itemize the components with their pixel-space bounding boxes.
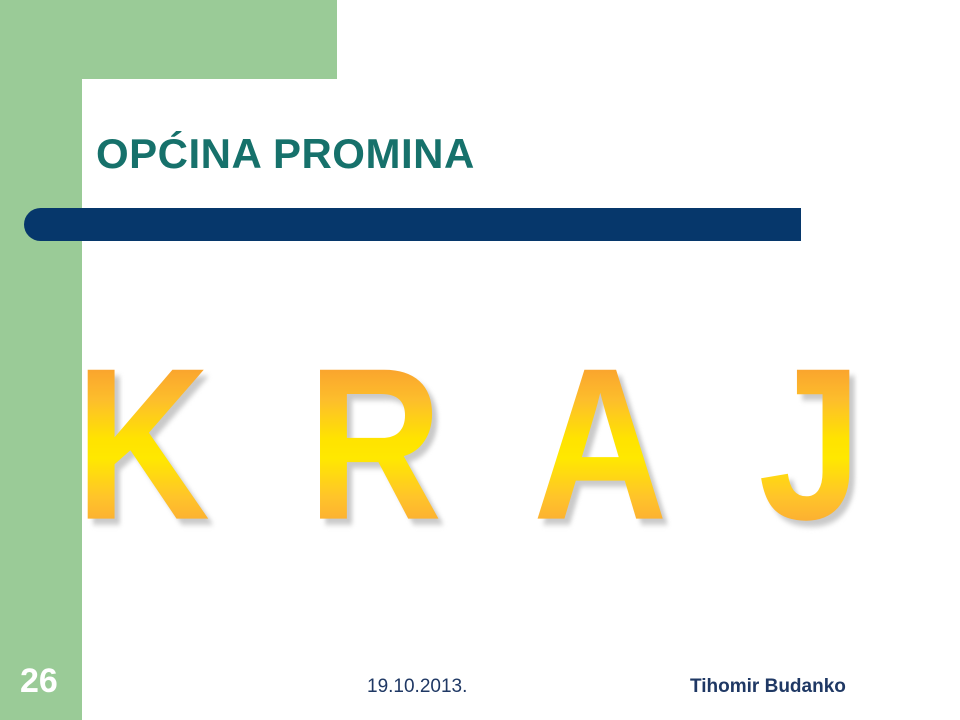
wordart-gradient-layer: K R A J bbox=[75, 323, 885, 565]
wordart-container: K R A J K R A J bbox=[0, 336, 960, 536]
footer-date: 19.10.2013. bbox=[367, 676, 467, 698]
slide-number: 26 bbox=[20, 662, 58, 701]
footer-author: Tihomir Budanko bbox=[690, 676, 846, 698]
wordart-kraj: K R A J K R A J bbox=[75, 336, 885, 552]
page-title: OPĆINA PROMINA bbox=[96, 130, 475, 178]
presentation-slide: OPĆINA PROMINA K R A J K R A J 26 19.10.… bbox=[0, 0, 960, 720]
navy-accent-bar bbox=[24, 208, 801, 241]
top-left-green-block bbox=[0, 0, 337, 79]
